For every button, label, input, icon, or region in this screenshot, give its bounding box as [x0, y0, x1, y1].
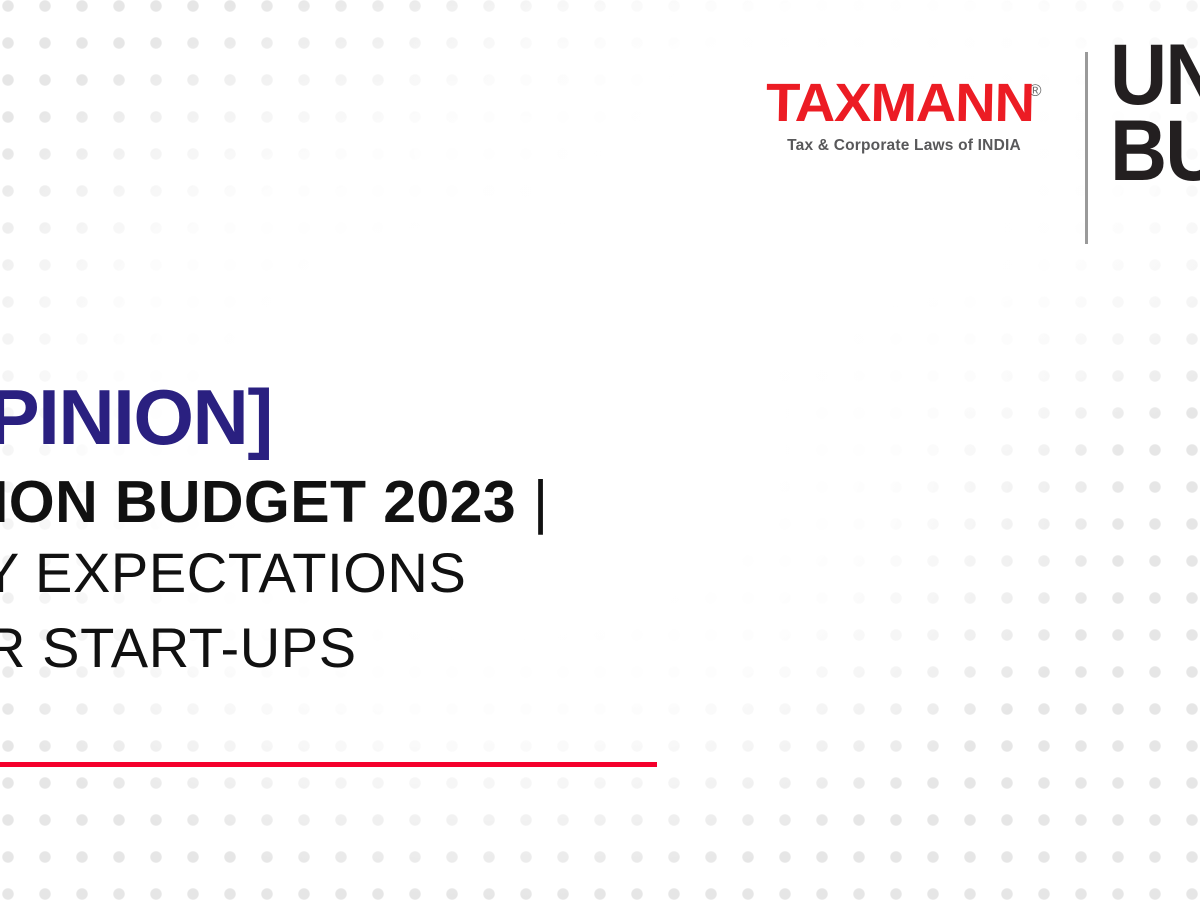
banner-canvas: TAXMANN ® Tax & Corporate Laws of INDIA … [0, 0, 1200, 900]
taxmann-logo[interactable]: TAXMANN ® Tax & Corporate Laws of INDIA [748, 78, 1060, 155]
brand-divider [1085, 52, 1088, 244]
union-budget-campaign-mark: UN BU [1110, 38, 1200, 189]
headline-line-key-expectations: KEY EXPECTATIONS [0, 544, 760, 601]
union-budget-mark-line-2: BU [1110, 114, 1200, 190]
headline-line-union-budget: UNION BUDGET 2023 | [0, 472, 760, 532]
headline-kicker-opinion: [OPINION] [0, 378, 760, 456]
headline-line-for-start-ups: FOR START-UPS [0, 619, 760, 676]
taxmann-tagline: Tax & Corporate Laws of INDIA [748, 137, 1060, 155]
headline-line-union-budget-text: UNION BUDGET 2023 [0, 469, 516, 535]
red-accent-rule [0, 762, 657, 767]
headline-block: [OPINION] UNION BUDGET 2023 | KEY EXPECT… [0, 378, 760, 676]
taxmann-wordmark: TAXMANN [766, 78, 1035, 129]
taxmann-wordmark-row: TAXMANN ® [748, 78, 1060, 129]
headline-separator-pipe: | [533, 469, 549, 535]
